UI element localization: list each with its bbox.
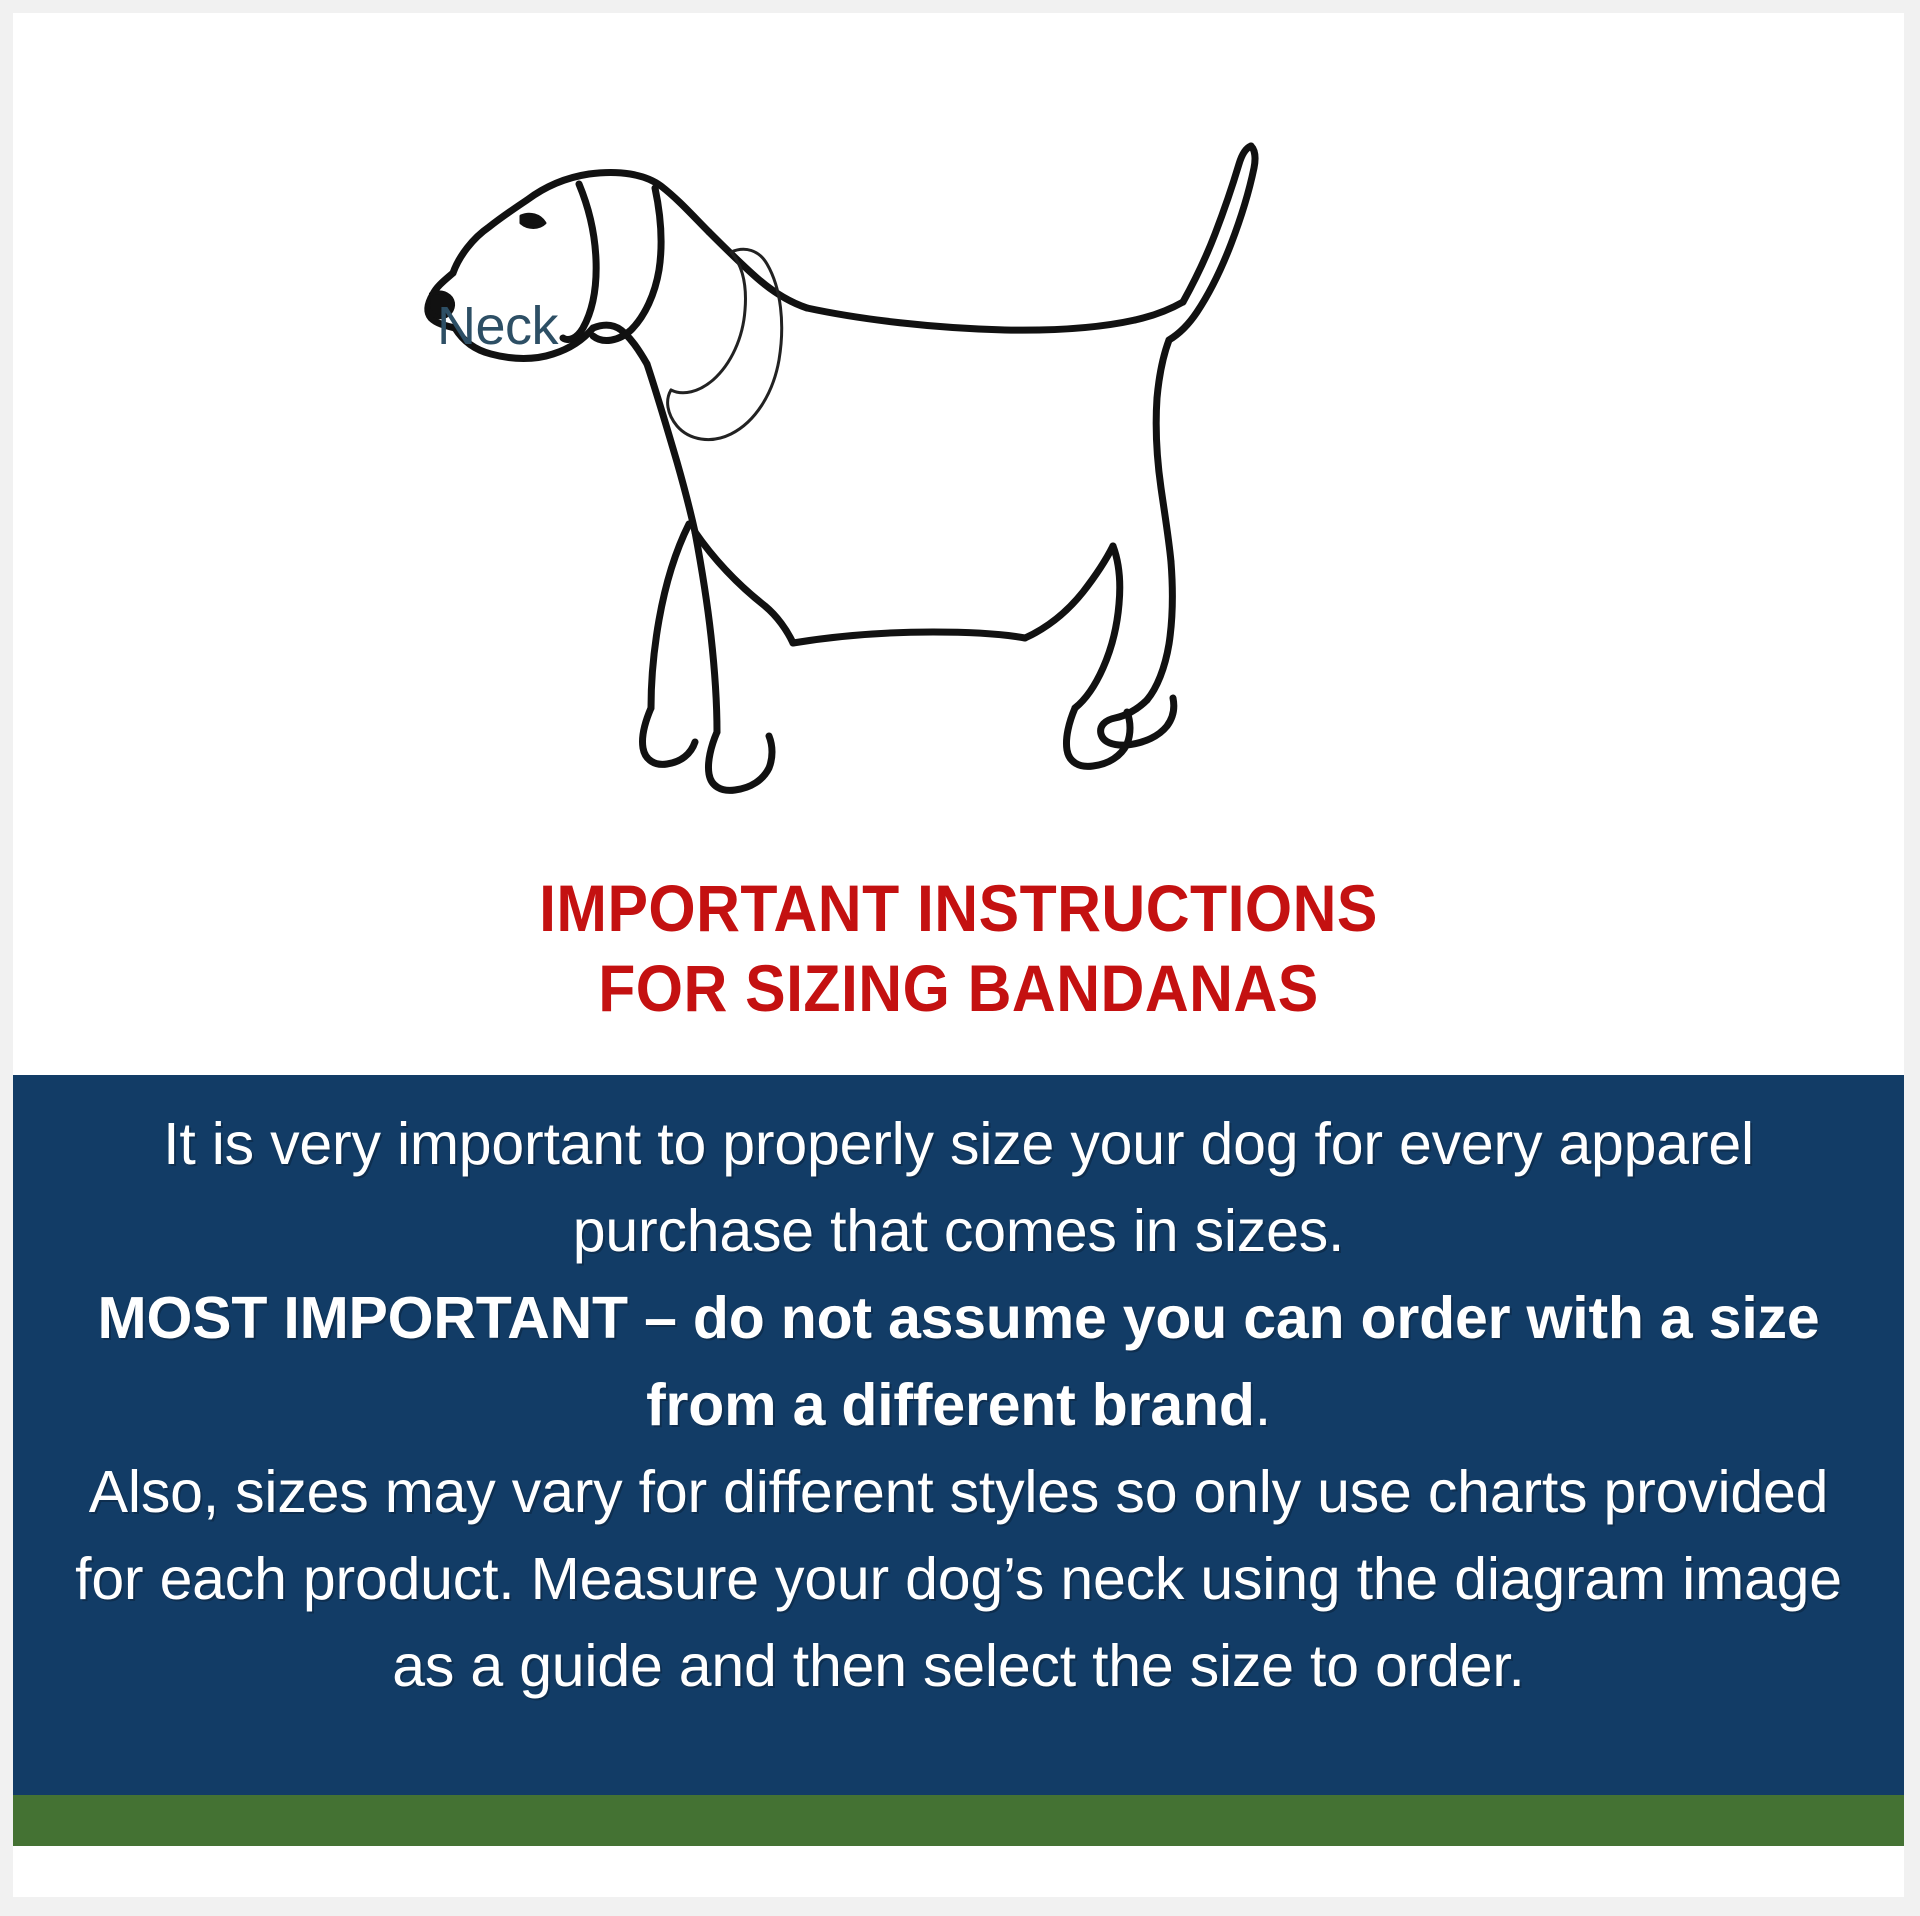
instructions-panel: It is very important to properly size yo…	[13, 1075, 1904, 1845]
page-title: IMPORTANT INSTRUCTIONS FOR SIZING BANDAN…	[89, 868, 1829, 1028]
page-title-line-1: IMPORTANT INSTRUCTIONS	[89, 868, 1829, 948]
dog-diagram-region: Neck	[13, 13, 1904, 808]
infographic-card: Neck IMPORTANT INSTRUCTIONS FOR SIZING B…	[13, 13, 1904, 1897]
instructions-paragraph-2-bold: MOST IMPORTANT – do not assume you can o…	[98, 1285, 1820, 1438]
neck-label: Neck	[437, 299, 558, 353]
page-title-line-2: FOR SIZING BANDANAS	[89, 948, 1829, 1028]
instructions-paragraph-1: It is very important to properly size yo…	[65, 1101, 1852, 1275]
instructions-paragraph-2: MOST IMPORTANT – do not assume you can o…	[65, 1275, 1852, 1449]
sizing-instructions-infographic: Neck IMPORTANT INSTRUCTIONS FOR SIZING B…	[0, 0, 1920, 1916]
instructions-paragraph-2-period: .	[1255, 1372, 1271, 1438]
dog-outline-icon	[393, 88, 1293, 828]
footer-accent-bar	[13, 1795, 1904, 1846]
instructions-paragraph-3: Also, sizes may vary for different style…	[65, 1449, 1852, 1710]
